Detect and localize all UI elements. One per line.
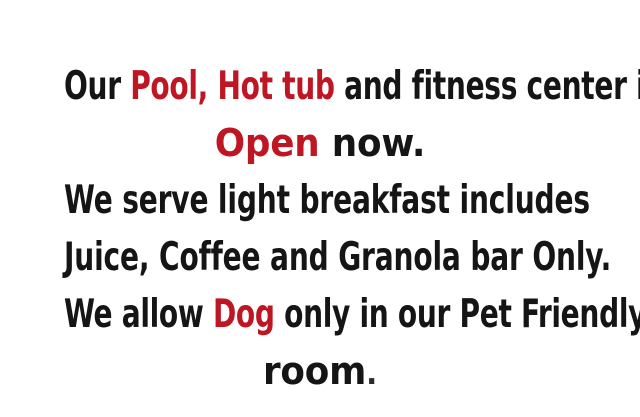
line2-suffix-text: now. [320,121,426,165]
hotel-notice-sign: Our Pool, Hot tub and fitness center is … [0,0,640,417]
line4-text: Juice, Coffee and Granola bar Only. [64,235,611,280]
notice-line-amenities-1: Our Pool, Hot tub and fitness center is [64,58,576,115]
line6-word-room: room [263,349,366,393]
line5-prefix-text: We allow [64,292,213,337]
line1-prefix-text: Our [64,64,130,109]
line5-highlight-dog: Dog [213,292,275,337]
line6-period: . [366,356,377,392]
notice-line-pet-policy-1: We allow Dog only in our Pet Friendly [64,286,576,343]
notice-line-breakfast-1: We serve light breakfast includes [64,172,576,229]
notice-line-breakfast-2: Juice, Coffee and Granola bar Only. [64,229,576,286]
notice-line-amenities-2: Open now. [19,115,621,172]
line5-suffix-text: only in our Pet Friendly [275,292,640,337]
line2-highlight-open: Open [215,121,320,165]
line3-text: We serve light breakfast includes [64,178,590,223]
line1-suffix-text: and fitness center is [335,64,640,109]
line1-highlight-pool-hot-tub: Pool, Hot tub [130,64,335,109]
notice-line-pet-policy-2: room. [19,343,621,400]
